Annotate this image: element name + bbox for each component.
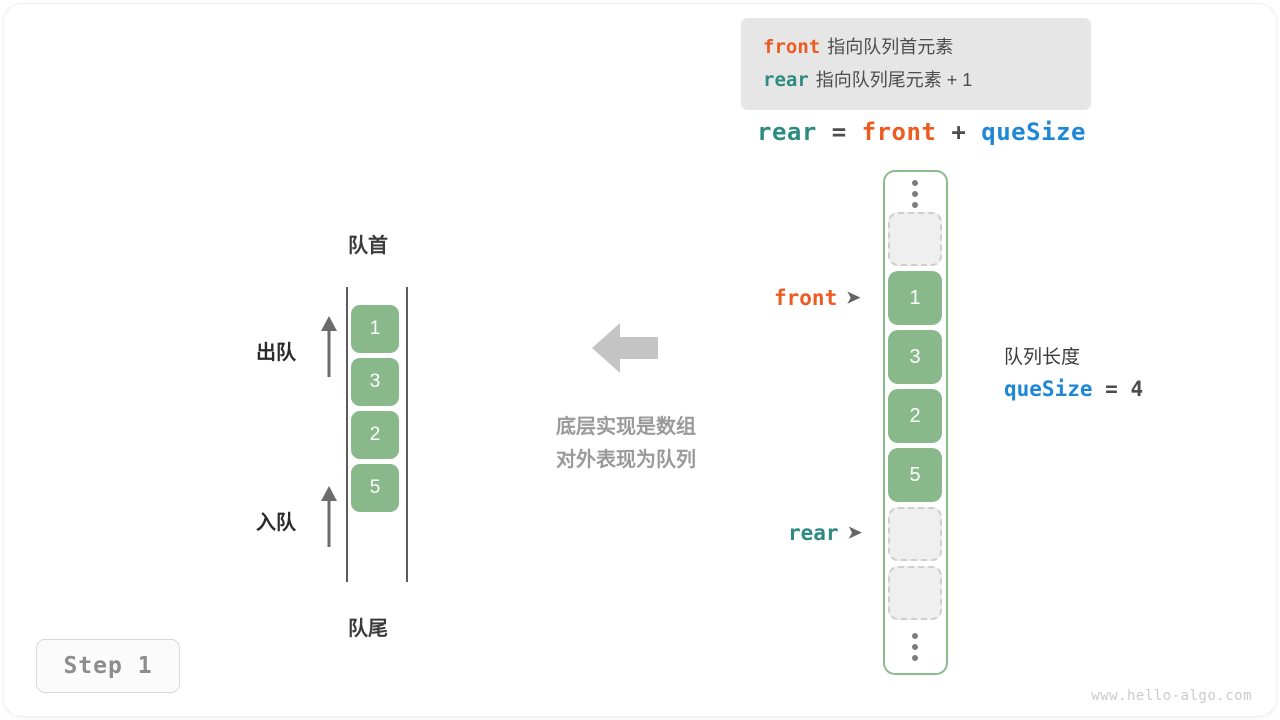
array-slot-empty <box>888 507 942 561</box>
queue-cell: 5 <box>351 464 399 512</box>
center-note-line-1: 底层实现是数组 <box>528 411 724 444</box>
queue-cell: 3 <box>351 358 399 406</box>
array-slot-filled: 2 <box>888 389 942 443</box>
vertical-ellipsis-icon <box>908 180 922 208</box>
array-slot-filled: 3 <box>888 330 942 384</box>
front-pointer: front ➤ <box>774 286 860 310</box>
dequeue-arrow-up-icon <box>318 315 340 377</box>
rear-pointer-label: rear <box>788 521 839 545</box>
vertical-ellipsis-icon <box>908 633 922 661</box>
arrow-left-icon <box>592 320 658 376</box>
array-slot-empty <box>888 566 942 620</box>
enqueue-arrow-up-icon <box>318 485 340 547</box>
formula-equals: = <box>832 118 847 146</box>
formula-rear: rear <box>757 118 817 146</box>
step-badge: Step 1 <box>36 639 180 693</box>
queue-size-caption: 队列长度 <box>1004 342 1143 369</box>
queue-tail-label: 队尾 <box>348 612 388 641</box>
center-note-line-2: 对外表现为队列 <box>528 444 724 477</box>
formula-front: front <box>862 118 937 146</box>
legend-keyword-front: front <box>763 36 820 58</box>
queue-cell: 1 <box>351 305 399 353</box>
legend-text-front: 指向队列首元素 <box>827 37 953 57</box>
watermark: www.hello-algo.com <box>1091 688 1252 704</box>
pointer-legend-box: front指向队列首元素 rear指向队列尾元素 + 1 <box>741 18 1091 110</box>
queue-size-expression: queSize = 4 <box>1004 377 1143 401</box>
dequeue-label: 出队 <box>256 336 296 365</box>
enqueue-label: 入队 <box>256 506 296 535</box>
queue-rail-left <box>346 287 348 582</box>
array-slot-filled: 5 <box>888 448 942 502</box>
legend-keyword-rear: rear <box>763 69 809 91</box>
pointer-arrowhead-icon: ➤ <box>846 288 860 308</box>
rear-pointer: rear ➤ <box>788 521 862 545</box>
queue-head-label: 队首 <box>348 229 388 258</box>
array-slot-empty <box>888 212 942 266</box>
legend-line-front: front指向队列首元素 <box>763 31 1091 64</box>
quesize-variable: queSize <box>1004 377 1093 401</box>
front-pointer-label: front <box>774 286 837 310</box>
diagram-canvas: front指向队列首元素 rear指向队列尾元素 + 1 rear = fron… <box>0 0 1280 720</box>
rear-formula: rear = front + queSize <box>757 118 1086 146</box>
legend-text-rear: 指向队列尾元素 + 1 <box>816 70 973 90</box>
legend-line-rear: rear指向队列尾元素 + 1 <box>763 64 1091 97</box>
center-note: 底层实现是数组 对外表现为队列 <box>528 411 724 477</box>
array-slot-filled: 1 <box>888 271 942 325</box>
pointer-arrowhead-icon: ➤ <box>848 523 862 543</box>
formula-plus: + <box>951 118 966 146</box>
formula-quesize: queSize <box>981 118 1086 146</box>
quesize-equals: = <box>1105 377 1118 401</box>
queue-cell: 2 <box>351 411 399 459</box>
quesize-value: 4 <box>1130 377 1143 401</box>
queue-size-note: 队列长度 queSize = 4 <box>1004 342 1143 401</box>
queue-rail-right <box>406 287 408 582</box>
